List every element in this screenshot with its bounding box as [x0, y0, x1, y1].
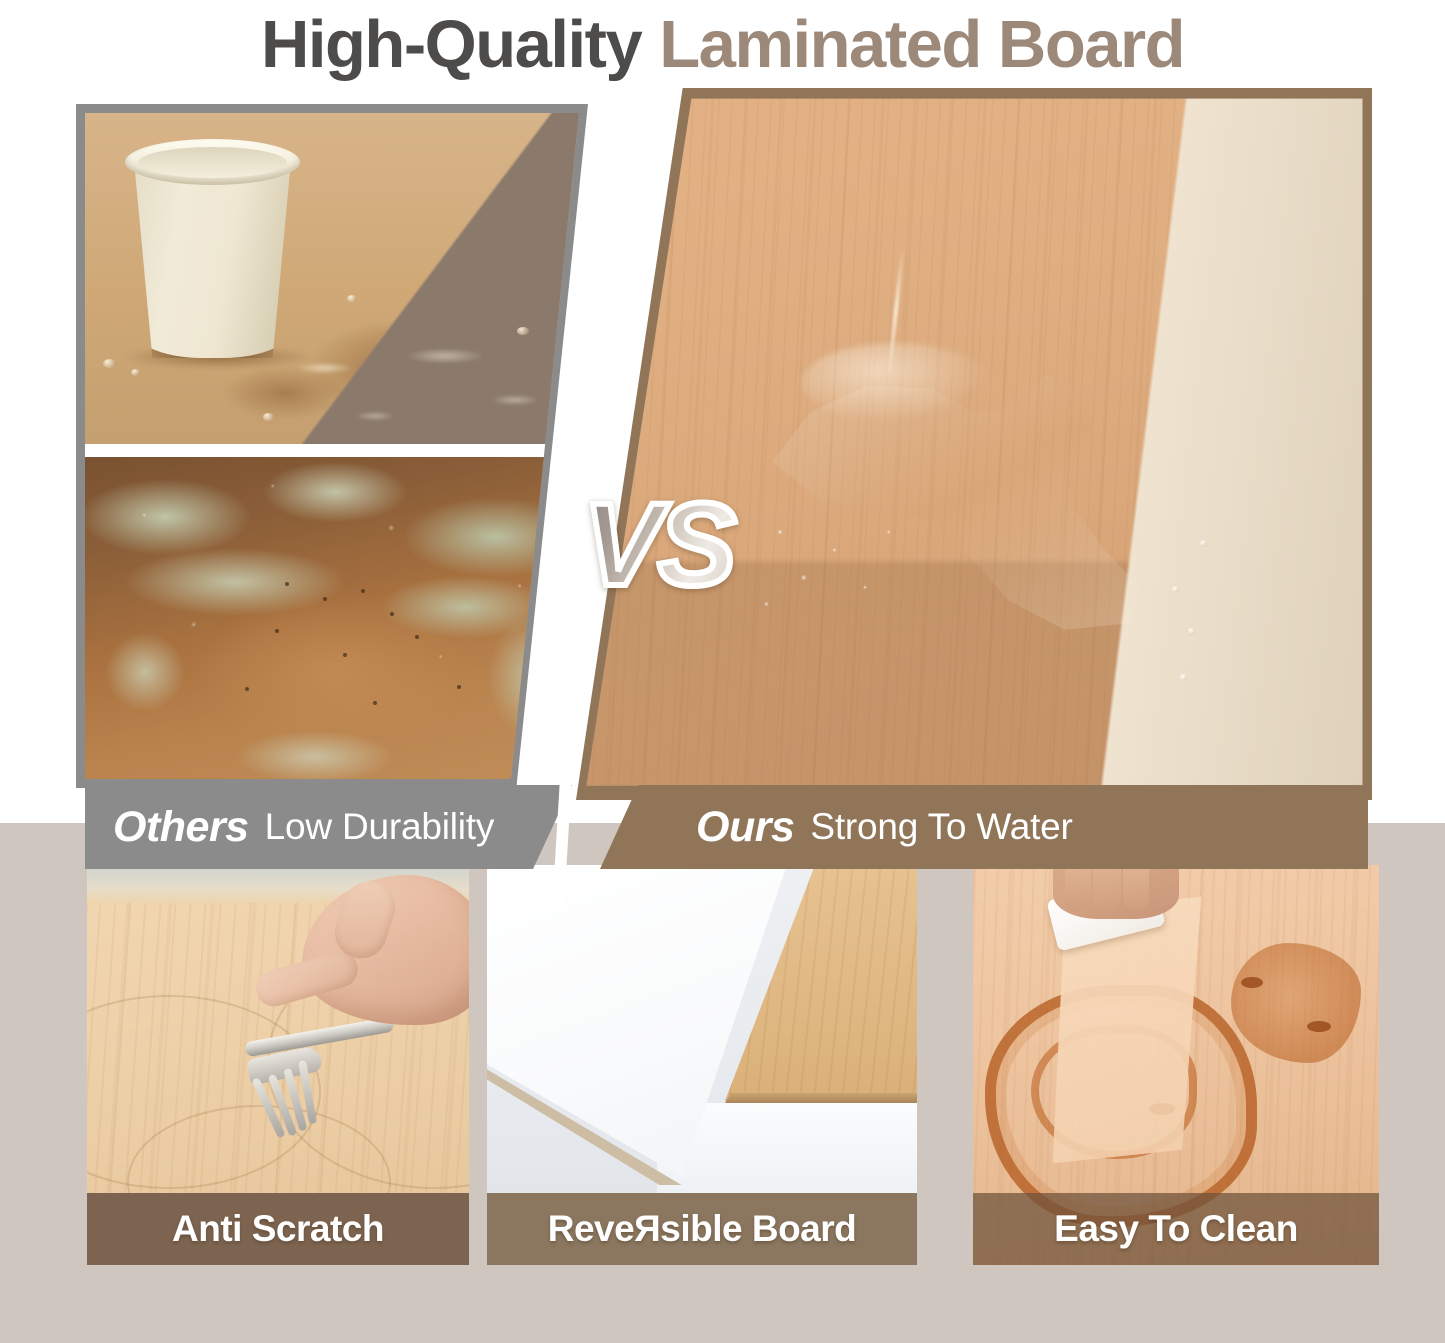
feature-tile-reversible-board: ReveЯsible Board [487, 865, 917, 1265]
ours-subtitle: Strong To Water [810, 806, 1072, 848]
mold-photo [85, 457, 579, 779]
liquid-droplet [517, 327, 529, 335]
feature-band: Anti Scratch ReveЯsible Board Easy To Cl… [0, 823, 1445, 1343]
water-bead [1200, 540, 1207, 547]
mold-speck [373, 701, 377, 705]
liquid-droplet [131, 369, 140, 376]
mold-speck [457, 685, 461, 689]
liquid-droplet [263, 413, 274, 421]
others-photo-stack [85, 113, 579, 779]
spill-sheen [265, 338, 579, 443]
photo-divider [85, 444, 579, 457]
mold-speck [245, 687, 249, 691]
others-label-bar: Others Low Durability [85, 785, 572, 869]
ours-label-bar: Ours Strong To Water [600, 785, 1368, 869]
ours-panel [576, 88, 1372, 800]
mold-speck [343, 653, 347, 657]
others-subtitle: Low Durability [265, 806, 495, 848]
finger [1123, 865, 1149, 911]
water-bead-photo [576, 88, 1372, 800]
mold-speck [285, 582, 289, 586]
sauce-blob [1241, 977, 1263, 988]
page-title-part-1: High-Quality [261, 11, 641, 78]
water-bead [1172, 586, 1179, 593]
cup-interior [138, 147, 287, 178]
water-bead [1188, 628, 1195, 635]
fork-handle [244, 1017, 394, 1058]
mold-speck [415, 635, 419, 639]
mold-texture [85, 457, 579, 779]
sauce-blob [1307, 1021, 1331, 1032]
page-title: High-Quality Laminated Board [0, 0, 1445, 88]
feature-tile-anti-scratch: Anti Scratch [87, 865, 469, 1265]
cup-spill-photo [85, 113, 579, 444]
water-bead-field [746, 508, 916, 628]
feature-tile-easy-to-clean: Easy To Clean [973, 865, 1379, 1265]
finger [1093, 865, 1121, 913]
comparison-section: Others Low Durability Ours Strong To Wat… [0, 88, 1445, 823]
feature-label-anti-scratch: Anti Scratch [87, 1193, 469, 1265]
feature-label-reversible-board: ReveЯsible Board [487, 1193, 917, 1265]
mold-speck [323, 597, 327, 601]
wood-board-edge [725, 1093, 917, 1103]
feature-label-easy-to-clean: Easy To Clean [973, 1193, 1379, 1265]
mold-speck [361, 589, 365, 593]
ours-photo-frame [576, 88, 1372, 800]
vs-badge: VS [583, 486, 732, 604]
finger [1065, 865, 1091, 911]
liquid-droplet [103, 359, 116, 368]
others-title: Others [113, 803, 249, 852]
mold-speck [275, 629, 279, 633]
puddle-highlight [801, 343, 991, 423]
ours-title: Ours [696, 803, 794, 852]
liquid-droplet [347, 295, 357, 302]
mold-speck [390, 612, 394, 616]
water-bead [1180, 674, 1187, 681]
others-panel [76, 104, 588, 788]
page-title-part-2: Laminated Board [659, 11, 1184, 78]
